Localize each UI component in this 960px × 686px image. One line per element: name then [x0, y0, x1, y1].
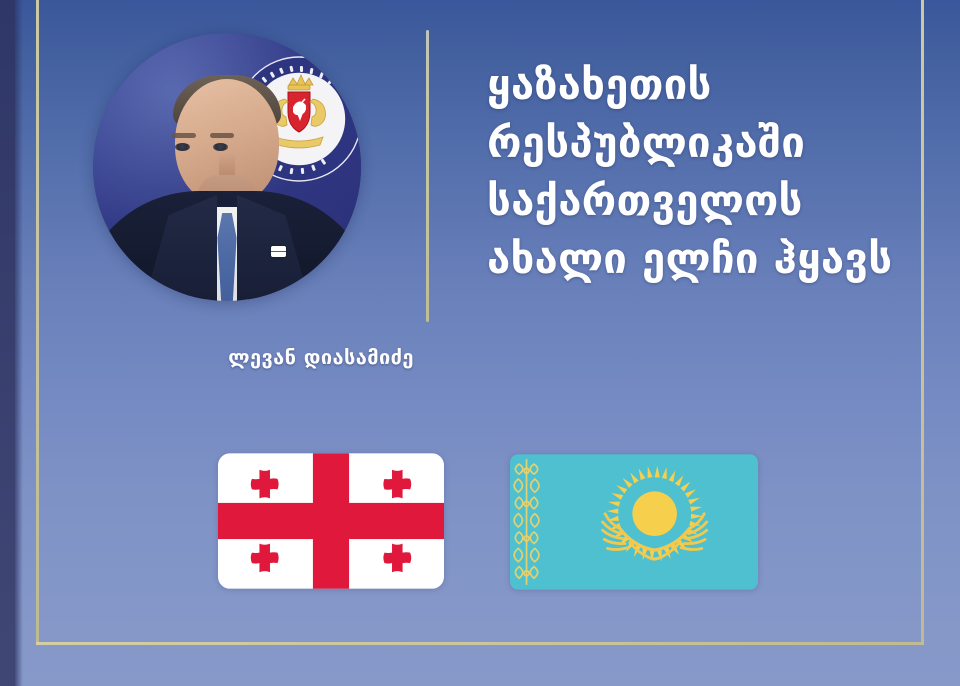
left-edge-band-fade [15, 0, 23, 686]
headline-line-4: ახალი ელჩი ჰყავს [487, 230, 907, 288]
figure-brow-left [172, 133, 196, 138]
georgia-flag-icon [218, 453, 444, 589]
portrait-figure [93, 33, 361, 301]
georgia-flag [218, 453, 444, 589]
figure-eye-left [175, 143, 190, 151]
georgia-flag-pin-icon [271, 246, 286, 257]
kazakhstan-flag-icon [510, 454, 758, 590]
headline-line-2: რესპუბლიკაში [487, 114, 907, 172]
left-edge-band [0, 0, 15, 686]
header-vertical-divider [426, 30, 429, 322]
frame-line-left [36, 0, 39, 645]
headline-text: ყაზახეთის რესპუბლიკაში საქართველოს ახალი… [487, 56, 907, 288]
portrait-name-caption: ლევან დიასამიძე [153, 345, 489, 369]
portrait-circle-photo [93, 33, 361, 301]
figure-brow-right [210, 133, 234, 138]
figure-eye-right [213, 143, 228, 151]
kazakhstan-flag [510, 454, 758, 590]
poster-canvas: ლევან დიასამიძე ყაზახეთის რესპუბლიკაში ს… [0, 0, 960, 686]
headline-line-1: ყაზახეთის [487, 56, 907, 114]
portrait-block: ლევან დიასამიძე [93, 33, 361, 301]
frame-line-bottom [36, 642, 924, 645]
headline-line-3: საქართველოს [487, 172, 907, 230]
frame-line-right [921, 0, 924, 645]
